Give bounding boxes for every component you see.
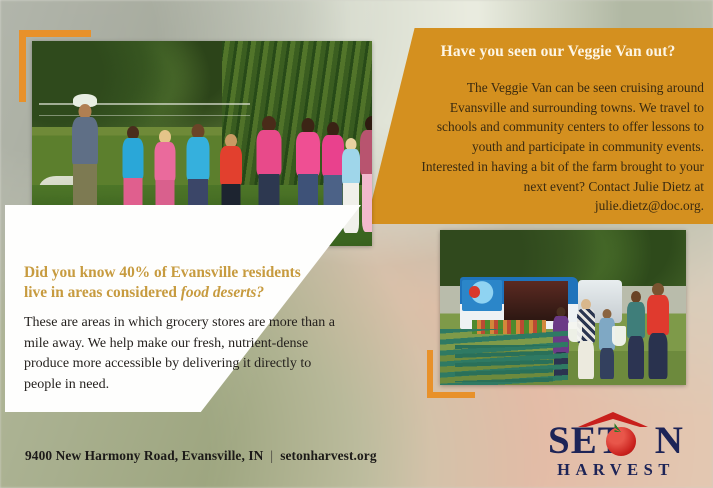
food-desert-heading: Did you know 40% of Evansville residents… (24, 263, 354, 304)
bracket-vertical-bar (427, 350, 433, 398)
figure-torso (360, 130, 372, 176)
food-desert-heading-line1: Did you know 40% of Evansville residents (24, 264, 301, 281)
veggie-van-photo (440, 230, 686, 385)
veggie-van-body: The Veggie Van can be seen cruising arou… (416, 78, 704, 216)
shopping-bag (612, 326, 626, 346)
corner-bracket-bottom-left (427, 350, 475, 398)
van-photo-scene (440, 230, 686, 385)
tomato-icon (606, 427, 636, 456)
logo-subtitle: HARVEST (528, 460, 704, 480)
figure-torso (72, 117, 98, 167)
figure-torso (123, 138, 144, 180)
footer-separator: | (263, 448, 280, 463)
figure-torso (647, 295, 669, 335)
van-red-logo-dot (469, 286, 480, 298)
shopper-figure (646, 283, 670, 379)
figure-torso (257, 130, 282, 176)
figure-torso (627, 302, 645, 338)
shopper-figure (626, 291, 646, 379)
bracket-horizontal-bar (427, 392, 475, 398)
shopping-bag (568, 322, 582, 342)
logo-word-right: N (655, 419, 684, 462)
veggie-van-heading: Have you seen our Veggie Van out? (410, 42, 706, 61)
footer-address: 9400 New Harmony Road, Evansville, IN (25, 448, 263, 463)
figure-legs (600, 348, 614, 379)
figure-legs (578, 341, 594, 379)
tomato-leaf-icon (615, 423, 628, 432)
footer-website[interactable]: setonharvest.org (280, 448, 376, 463)
footer-contact-line: 9400 New Harmony Road, Evansville, IN|se… (25, 448, 377, 464)
van-side-graphic (462, 280, 502, 312)
food-desert-heading-line2-plain: live in areas considered (24, 284, 181, 301)
bracket-vertical-bar (19, 30, 26, 102)
figure-torso (187, 137, 210, 181)
figure-torso (296, 132, 320, 176)
figure-legs (628, 336, 644, 379)
bracket-horizontal-bar (19, 30, 91, 37)
figure-torso (220, 146, 242, 186)
child-figure (358, 116, 372, 234)
flyer-card: Have you seen our Veggie Van out? The Ve… (0, 0, 713, 488)
food-desert-body: These are areas in which grocery stores … (24, 313, 346, 396)
figure-legs (362, 174, 372, 232)
figure-legs (649, 333, 668, 379)
figure-torso (155, 142, 176, 182)
seton-harvest-logo: SETN HARVEST (528, 410, 704, 482)
food-desert-heading-emphasis: food deserts? (181, 284, 264, 301)
corner-bracket-top-left (19, 30, 91, 102)
